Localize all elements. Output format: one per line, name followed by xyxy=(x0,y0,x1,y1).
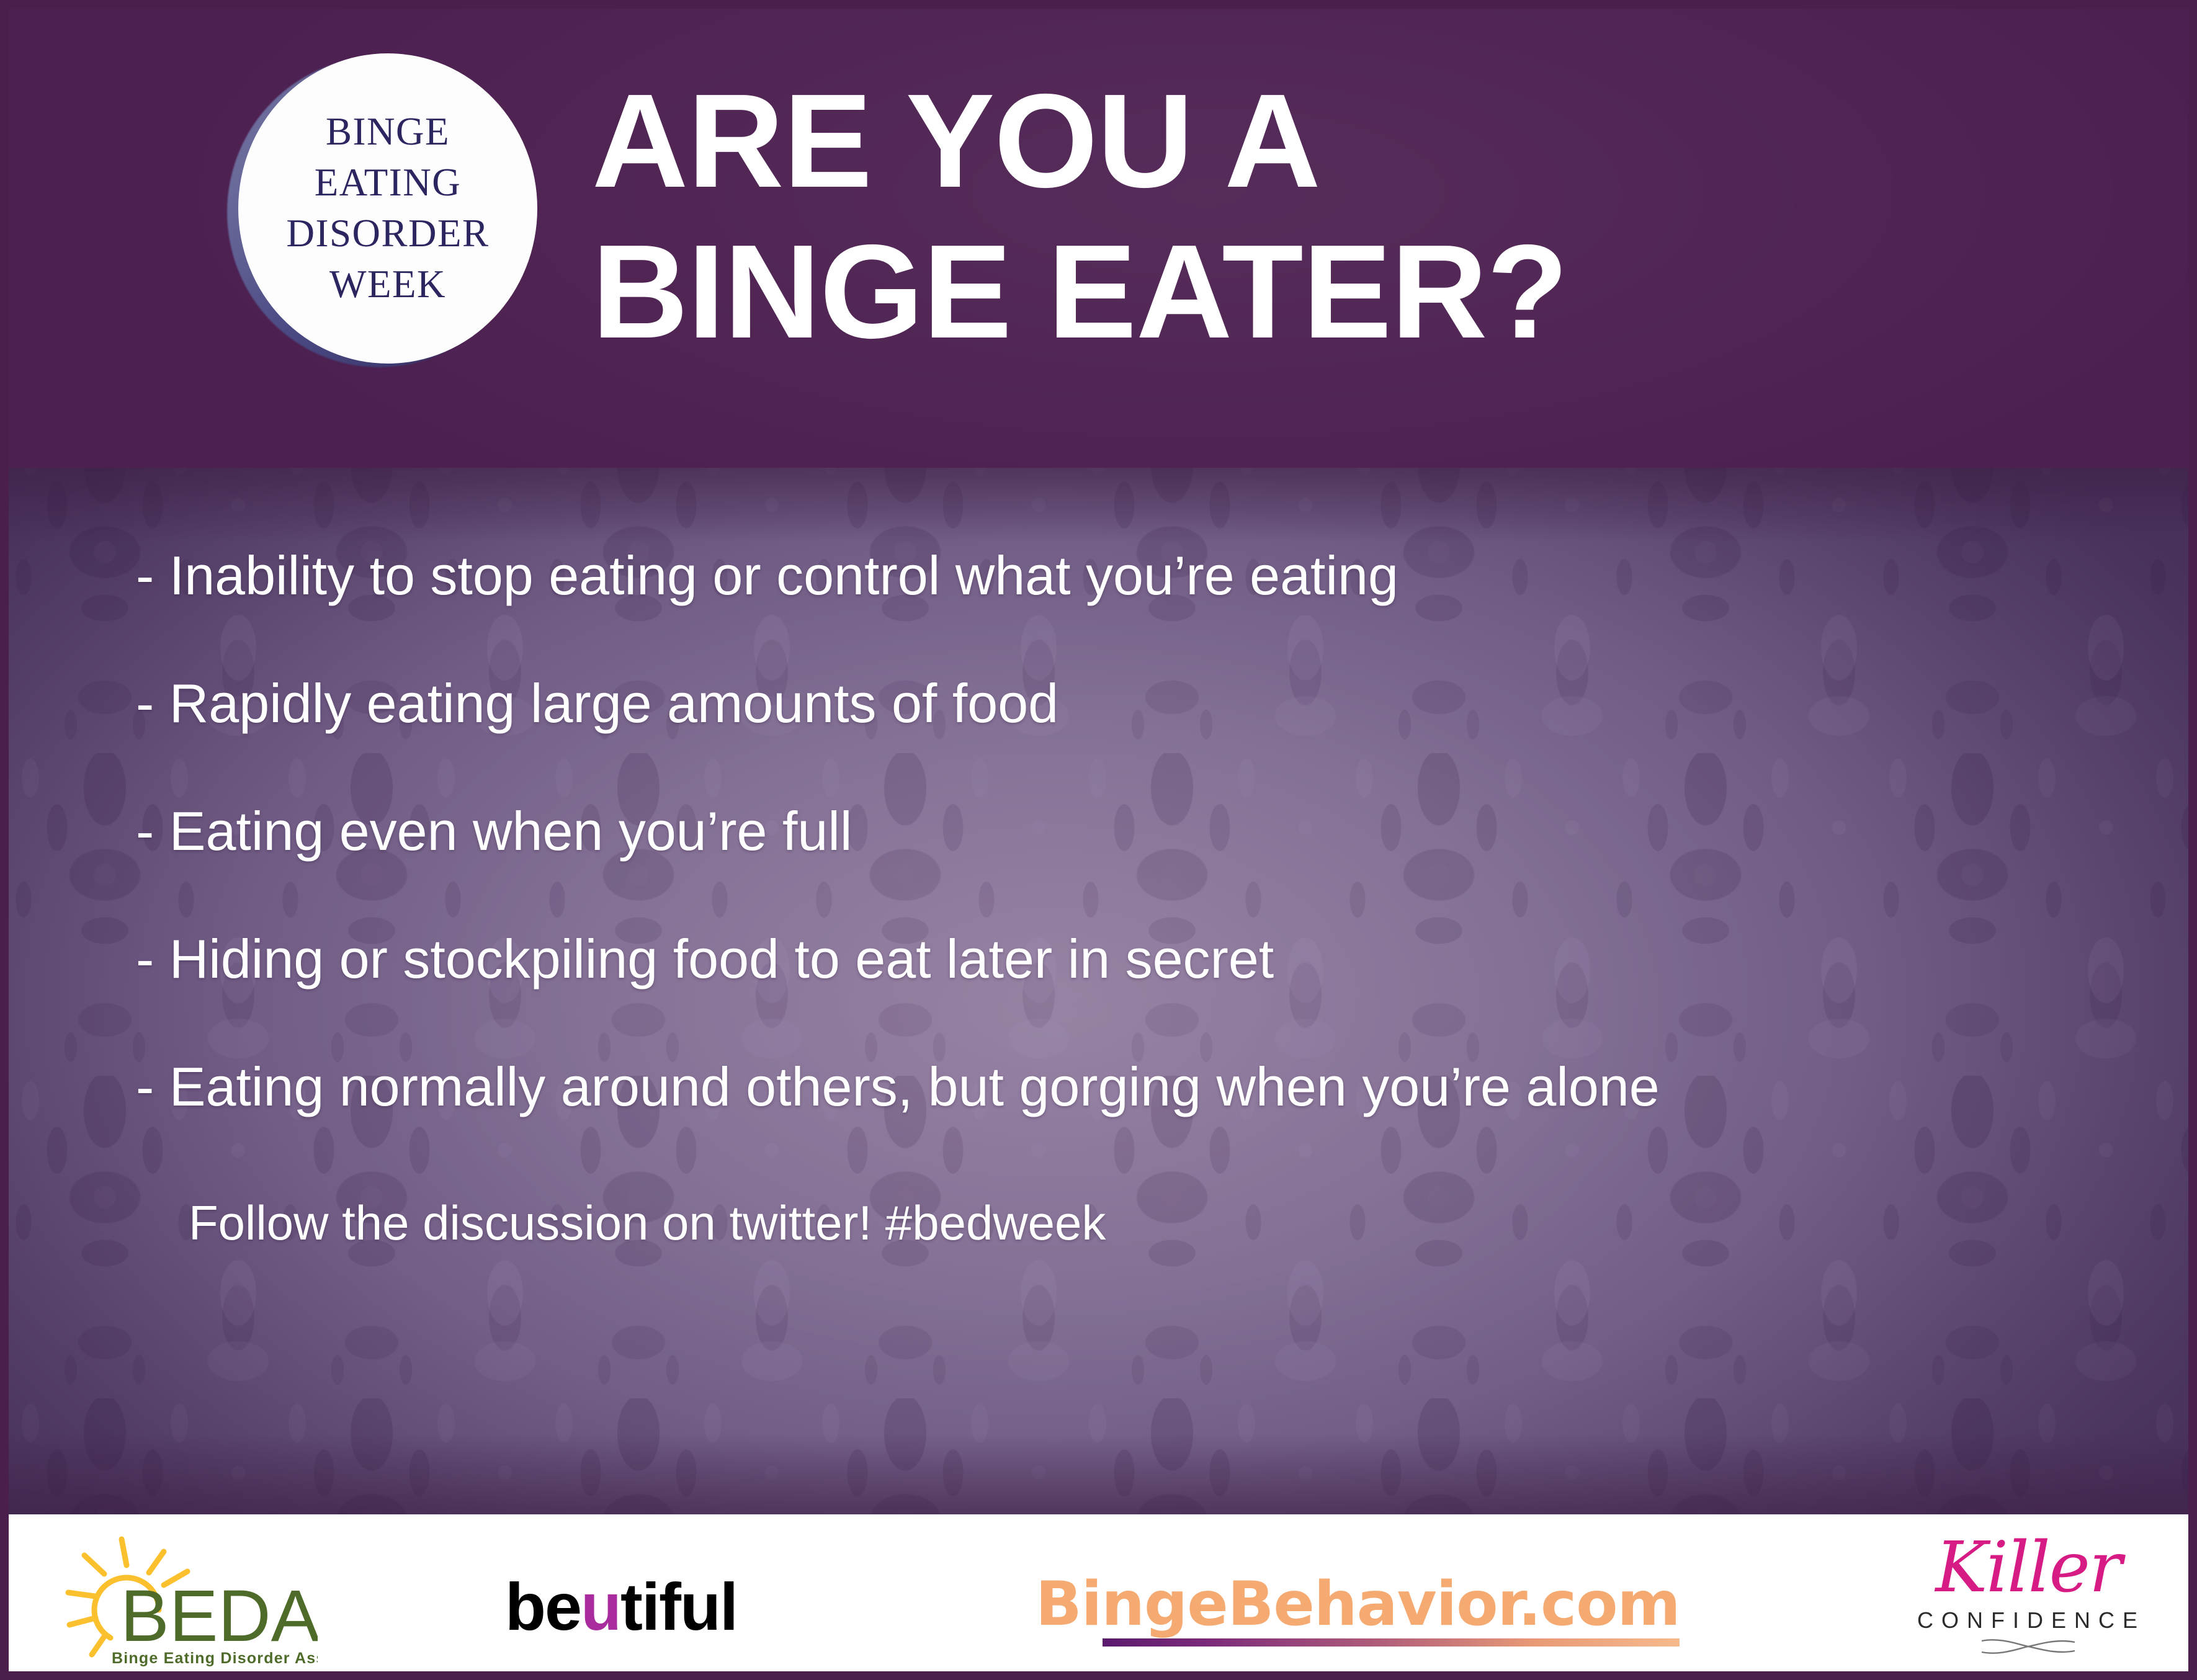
beutiful-prefix: be xyxy=(505,1569,581,1644)
symptom-list: - Inability to stop eating or control wh… xyxy=(136,548,2114,1187)
logo-line-week: WEEK xyxy=(329,259,446,310)
list-item: - Inability to stop eating or control wh… xyxy=(136,548,2114,603)
logo-line-eating: EATING xyxy=(315,158,461,208)
sponsor-footer: BEDA Binge Eating Disorder Association b… xyxy=(9,1514,2188,1680)
beda-logo-svg: BEDA Binge Eating Disorder Association xyxy=(57,1528,318,1671)
bingebehavior-logo[interactable]: BingeBehavior.com xyxy=(1036,1574,1680,1646)
logo-line-disorder: DISORDER xyxy=(286,208,489,259)
beda-tagline: Binge Eating Disorder Association xyxy=(112,1650,318,1667)
header-band: BINGE EATING DISORDER WEEK ARE YOU A BIN… xyxy=(9,9,2188,468)
bed-week-logo: BINGE EATING DISORDER WEEK xyxy=(227,50,537,372)
beutiful-logo[interactable]: beutiful xyxy=(505,1568,737,1645)
list-item: - Rapidly eating large amounts of food xyxy=(136,676,2114,731)
title-line-1: ARE YOU A xyxy=(592,66,2081,217)
page-title: ARE YOU A BINGE EATER? xyxy=(592,66,2081,367)
beda-logo[interactable]: BEDA Binge Eating Disorder Association xyxy=(57,1528,318,1671)
bow-flourish xyxy=(1907,1636,2149,1657)
title-line-2: BINGE EATER? xyxy=(592,217,2081,367)
body-area: - Inability to stop eating or control wh… xyxy=(9,468,2188,1514)
confidence-subtitle: CONFIDENCE xyxy=(1913,1607,2149,1633)
beda-acronym: BEDA xyxy=(120,1575,318,1657)
slide-root: BINGE EATING DISORDER WEEK ARE YOU A BIN… xyxy=(0,0,2197,1680)
bow-icon xyxy=(1976,1636,2081,1657)
logo-disc: BINGE EATING DISORDER WEEK xyxy=(238,53,537,364)
twitter-cta: Follow the discussion on twitter! #bedwe… xyxy=(189,1195,1106,1251)
beutiful-highlight-u: u xyxy=(581,1569,620,1644)
killer-confidence-logo[interactable]: Killer CONFIDENCE xyxy=(1907,1532,2149,1657)
logo-line-binge: BINGE xyxy=(326,107,450,158)
killer-script-wordmark: Killer xyxy=(1907,1532,2149,1605)
beutiful-suffix: tiful xyxy=(620,1569,737,1644)
bingebehavior-wordmark: BingeBehavior.com xyxy=(1036,1574,1680,1635)
list-item: - Eating even when you’re full xyxy=(136,804,2114,859)
list-item: - Hiding or stockpiling food to eat late… xyxy=(136,932,2114,986)
list-item: - Eating normally around others, but gor… xyxy=(136,1060,2114,1114)
